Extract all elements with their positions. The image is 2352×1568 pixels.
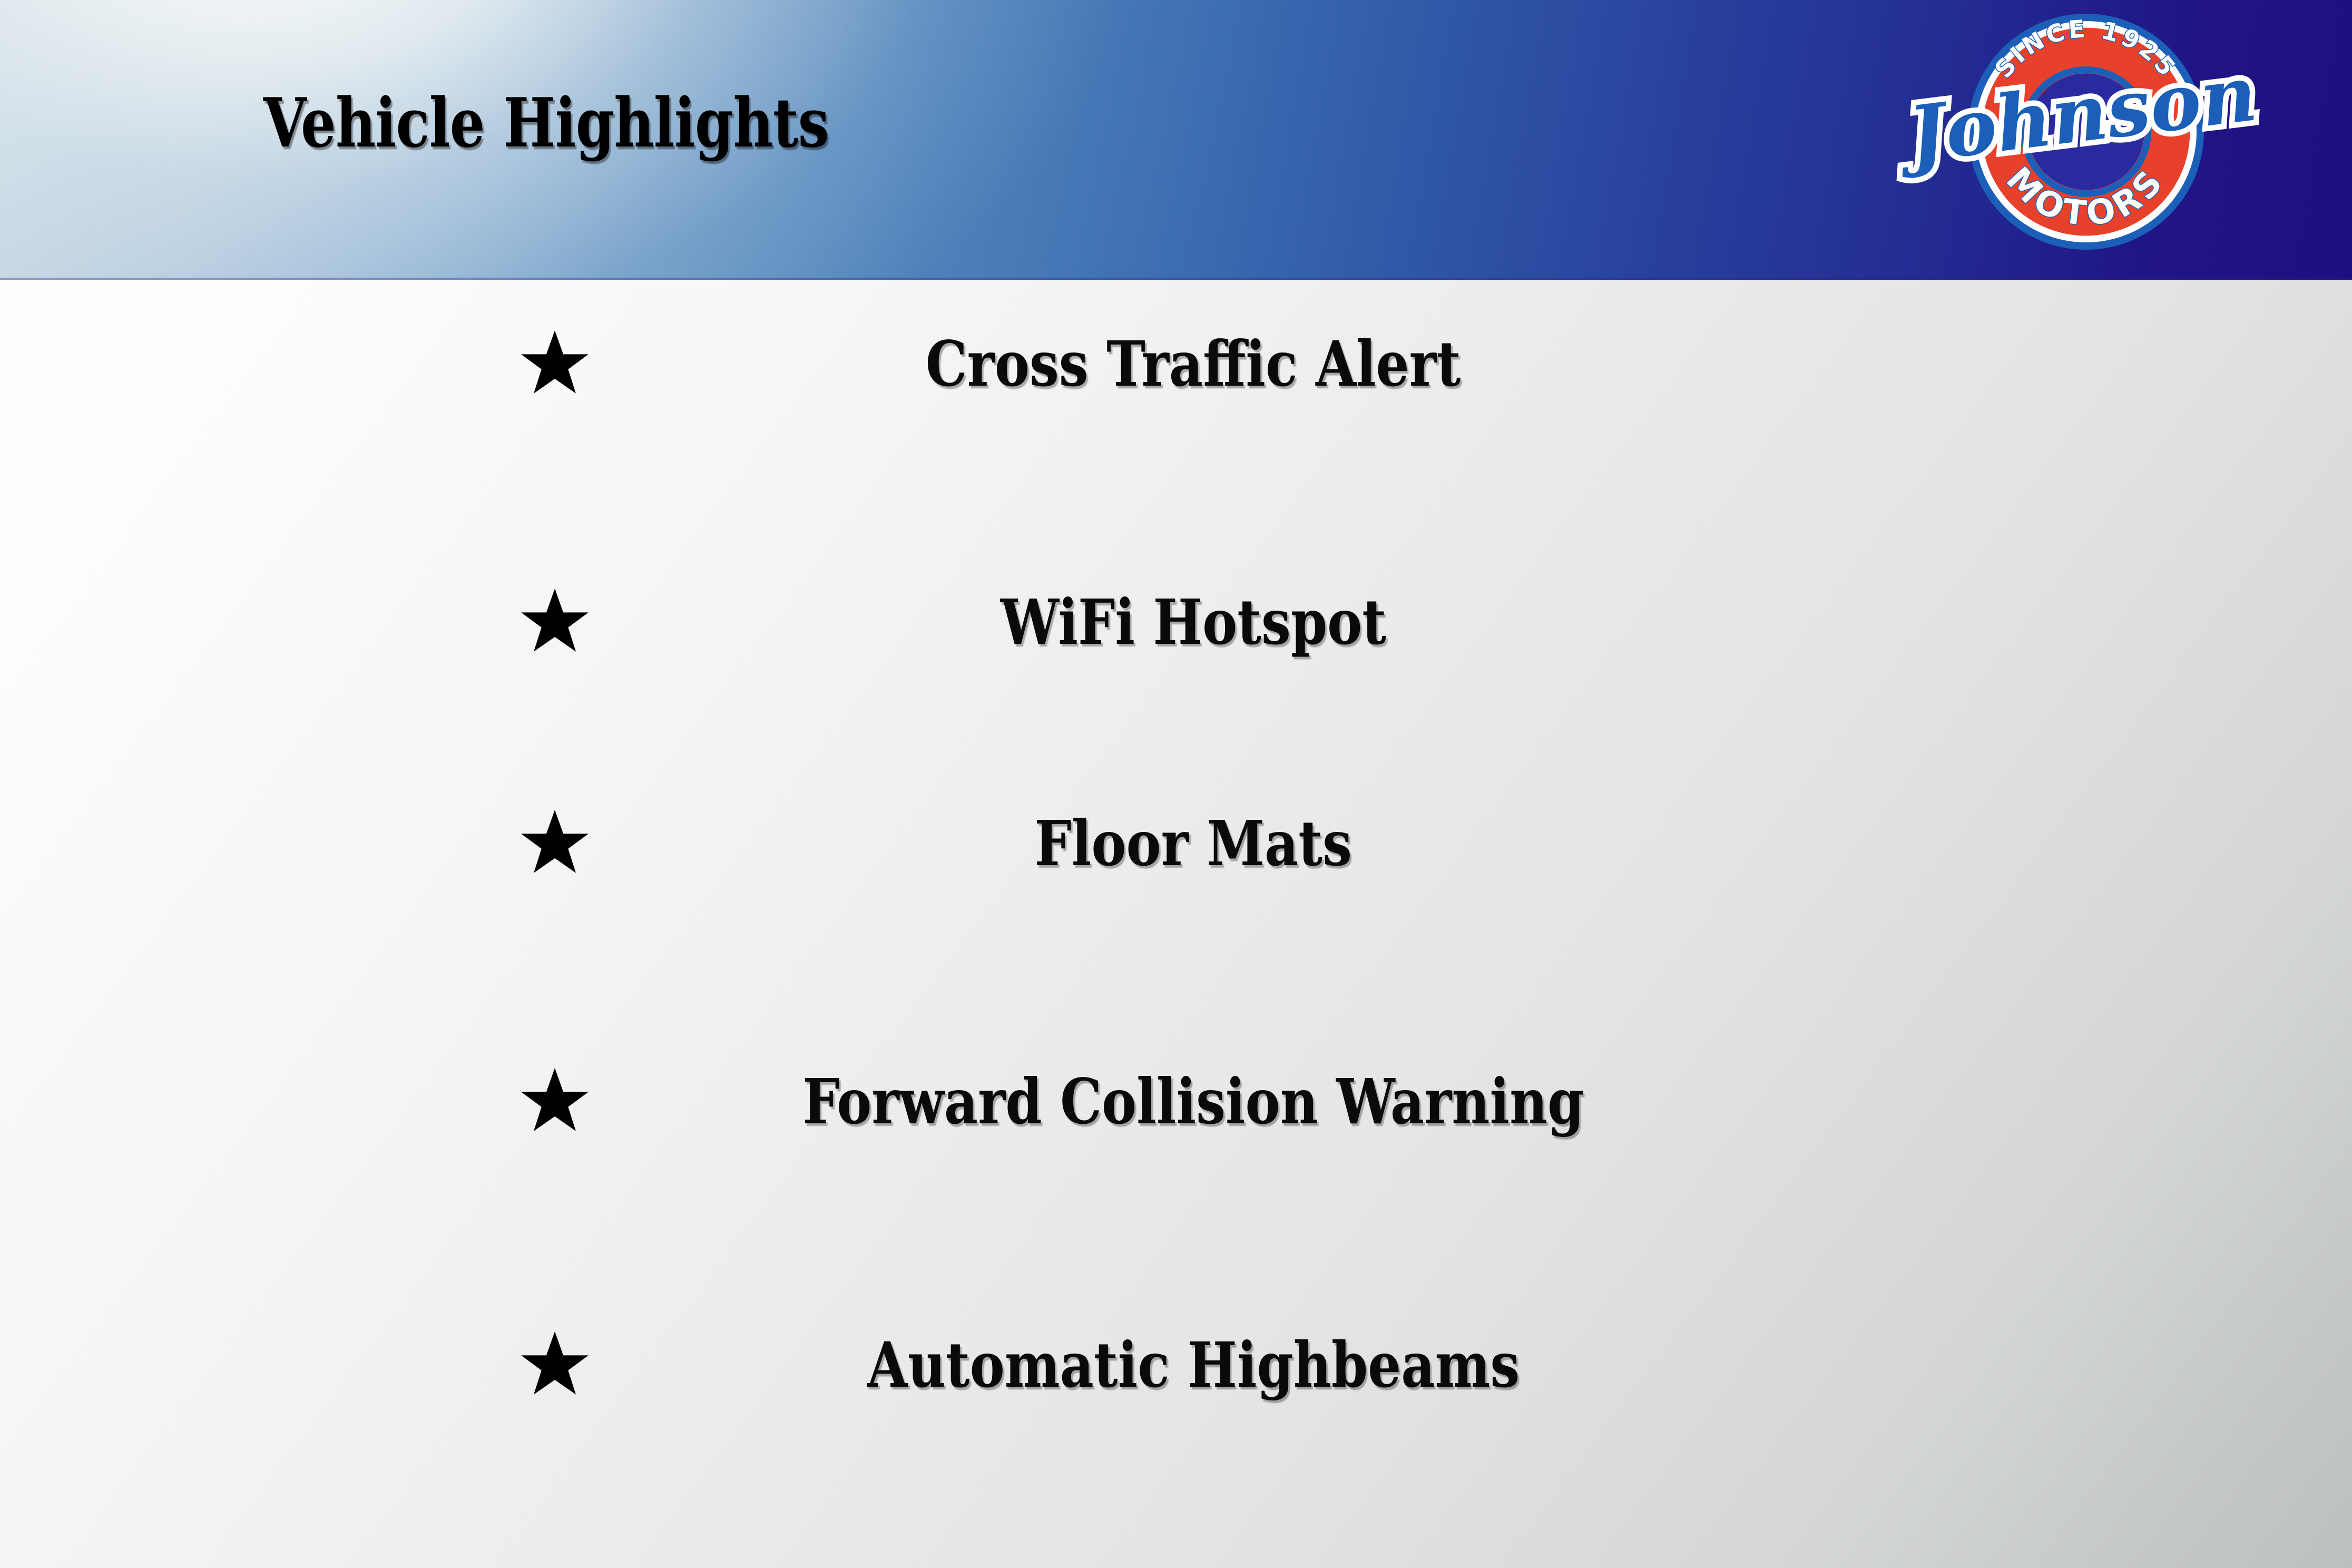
star-icon: [519, 808, 591, 879]
vehicle-highlights-list: Cross Traffic Alert WiFi Hotspot Floor M…: [0, 280, 2352, 1568]
list-item-label-wrap: Cross Traffic Alert: [611, 331, 1776, 397]
list-item-label: Forward Collision Warning: [802, 1069, 1584, 1134]
list-item: Forward Collision Warning: [0, 1046, 2352, 1157]
list-item-label-wrap: WiFi Hotspot: [611, 590, 1776, 655]
list-item-label: Cross Traffic Alert: [926, 331, 1461, 397]
list-item-label: Automatic Highbeams: [867, 1332, 1520, 1398]
johnson-motors-logo: SINCE 1925 MOTORS Johnson Johnson: [1883, 0, 2289, 279]
list-item-label: Floor Mats: [1035, 811, 1353, 876]
list-item: Automatic Highbeams: [0, 1310, 2352, 1420]
slide-canvas: Vehicle Highlights SINCE 1925 MO: [0, 0, 2352, 1568]
list-item-label-wrap: Forward Collision Warning: [611, 1069, 1776, 1134]
star-icon: [519, 586, 591, 658]
page-title: Vehicle Highlights: [263, 90, 829, 157]
star-icon: [519, 1066, 591, 1138]
star-icon: [519, 1329, 591, 1401]
list-item: Cross Traffic Alert: [0, 309, 2352, 419]
star-icon: [519, 328, 591, 400]
list-item-label-wrap: Floor Mats: [611, 811, 1776, 876]
list-item: Floor Mats: [0, 788, 2352, 899]
list-item-label: WiFi Hotspot: [1001, 590, 1386, 655]
list-item: WiFi Hotspot: [0, 567, 2352, 678]
list-item-label-wrap: Automatic Highbeams: [611, 1332, 1776, 1398]
